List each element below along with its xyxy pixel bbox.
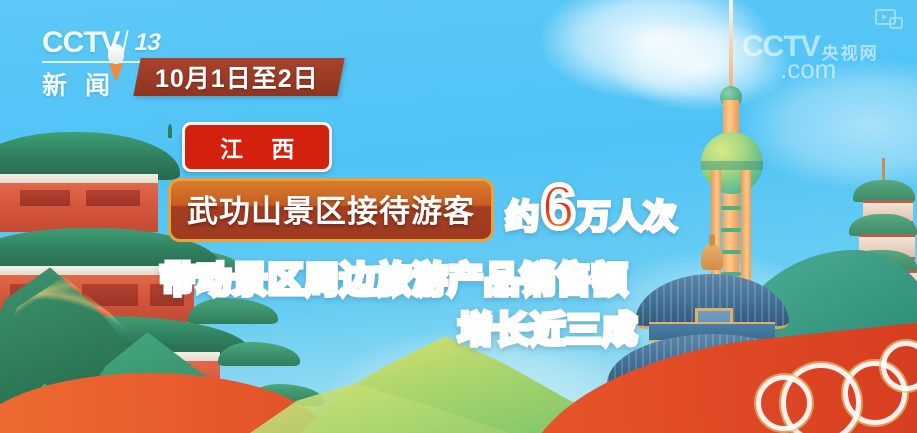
date-banner: 10月1日至2日: [133, 58, 344, 96]
cloud-swirl: [756, 375, 812, 431]
subheadline-line-2: 增长近三成: [458, 302, 638, 353]
channel-number: 13: [121, 30, 168, 56]
picture-in-picture-icon[interactable]: [875, 9, 903, 29]
amount-value: 6: [541, 182, 575, 235]
pagoda-roof: [853, 180, 915, 202]
pavilion-roof: [0, 132, 180, 180]
province-badge: 江 西: [182, 122, 332, 172]
pavilion-window: [86, 190, 140, 206]
amount-unit: 万人次: [577, 190, 676, 238]
microphone-stand: [109, 64, 123, 82]
subheadline-line-1: 带动景区周边旅游产品销售额: [160, 252, 628, 303]
approx-label: 约: [506, 190, 539, 238]
microphone-head: [108, 44, 124, 64]
roof-finial: [168, 124, 172, 138]
pearl-tower-rung: [721, 206, 741, 210]
microphone-icon: [108, 44, 124, 78]
pavilion-window: [20, 190, 70, 206]
broadcast-graphic: CCTV 13 新闻 10月1日至2日 江 西 武功山景区接待游客 约 6 万人…: [0, 0, 917, 433]
headline-pill: 武功山景区接待游客: [168, 178, 494, 242]
date-range-label: 10月1日至2日: [155, 59, 319, 95]
pavilion-eave: [218, 342, 300, 366]
temple-finial: [701, 244, 723, 270]
headline-row: 武功山景区接待游客 约 6 万人次: [168, 178, 676, 242]
visitor-amount: 约 6 万人次: [506, 182, 676, 238]
pavilion-band: [0, 174, 158, 183]
